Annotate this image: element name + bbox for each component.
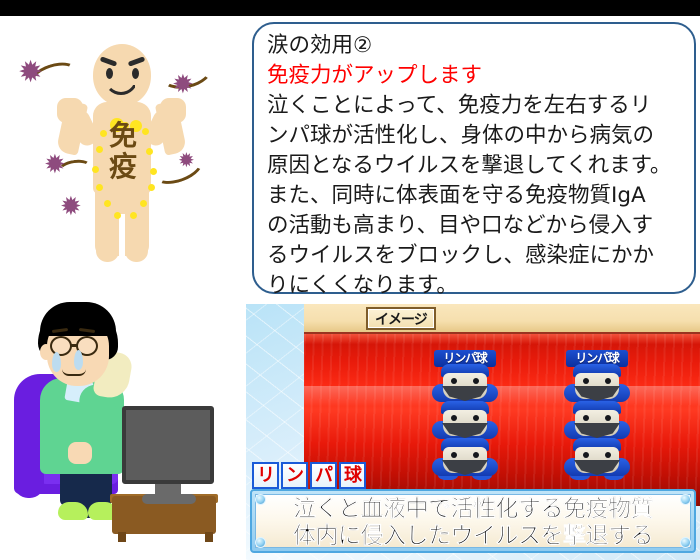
mascot-figure bbox=[428, 438, 502, 478]
tv-capture-panel: イメージ リンパ球 bbox=[246, 304, 700, 560]
textbox-line-7: の活動も高まり、目や口などから侵入す bbox=[267, 211, 682, 241]
man-shoe-left bbox=[58, 502, 88, 520]
tear-drop bbox=[52, 352, 61, 372]
caption-stud-icon bbox=[255, 494, 266, 505]
mascot-eye-left bbox=[451, 415, 457, 421]
lymphocyte-term-tiles: リ ン パ 球 bbox=[252, 462, 366, 489]
immunity-sparkle-dot bbox=[140, 200, 147, 207]
immunity-sparkle-dot bbox=[114, 212, 121, 219]
chest-kanji-line1: 免 bbox=[96, 120, 150, 151]
top-black-bar bbox=[0, 0, 700, 16]
chest-kanji: 免 疫 bbox=[96, 120, 150, 182]
mascot-figure bbox=[428, 364, 502, 404]
figure-head bbox=[93, 44, 151, 106]
vessel-highlight bbox=[304, 386, 700, 407]
immunity-figure-illustration: ✹ ✹ ✹ ✹ ✹ bbox=[0, 18, 244, 290]
mascot-figure bbox=[428, 401, 502, 441]
mascot-figure bbox=[560, 364, 634, 404]
caption-line-1: 泣くと血液中で活性化する免疫物質 bbox=[256, 496, 690, 523]
term-tile: ン bbox=[281, 462, 308, 489]
virus-germ-icon: ✹ bbox=[172, 72, 194, 98]
tv-caption-inner: 泣くと血液中で活性化する免疫物質 体内に侵入したウイルスを撃退する bbox=[255, 494, 691, 548]
term-tile: 球 bbox=[339, 462, 366, 489]
term-tile: リ bbox=[252, 462, 279, 489]
caption-stud-icon bbox=[255, 537, 266, 548]
textbox-line-5: 原因となるウイルスを撃退してくれます。 bbox=[267, 151, 682, 181]
program-header-band: イメージ bbox=[304, 304, 700, 334]
virus-germ-icon: ✹ bbox=[178, 150, 195, 170]
figure-fist-left bbox=[57, 98, 83, 123]
caption-stud-icon bbox=[680, 494, 691, 505]
textbox-line-8: るウイルスをブロックし、感染症にかか bbox=[267, 241, 682, 271]
tv-stand-foot bbox=[118, 532, 126, 542]
man-mouth bbox=[62, 369, 86, 376]
textbox-line-9: りにくくなります。 bbox=[267, 271, 682, 301]
immunity-sparkle-dot bbox=[96, 184, 103, 191]
mascot-eye-left bbox=[583, 378, 589, 384]
textbox-line-3: 泣くことによって、免疫力を左右するリ bbox=[267, 91, 682, 121]
caption-line-2: 体内に侵入したウイルスを撃退する bbox=[256, 523, 690, 550]
term-tile: パ bbox=[310, 462, 337, 489]
mascot-eye-right bbox=[473, 415, 479, 421]
man-hand bbox=[68, 442, 92, 464]
tv-screen bbox=[122, 406, 214, 484]
figure-fist-right bbox=[160, 98, 186, 123]
virus-germ-icon: ✹ bbox=[44, 152, 66, 178]
tear-drop bbox=[74, 350, 83, 370]
glasses-bridge bbox=[71, 344, 78, 347]
immunity-sparkle-dot bbox=[130, 212, 137, 219]
immunity-sparkle-dot bbox=[104, 200, 111, 207]
mascot-figure bbox=[560, 401, 634, 441]
immunity-sparkle-dot bbox=[150, 168, 157, 175]
chest-kanji-line2: 疫 bbox=[96, 151, 150, 182]
mascot-eye-right bbox=[605, 452, 611, 458]
slide-canvas: ✹ ✹ ✹ ✹ ✹ bbox=[0, 0, 700, 560]
crying-man-illustration bbox=[0, 296, 244, 560]
image-chip-label: イメージ bbox=[366, 307, 436, 330]
mascot-eye-right bbox=[473, 452, 479, 458]
textbox-line-6: また、同時に体表面を守る免疫物質IgA bbox=[267, 181, 682, 211]
figure-leg-gap bbox=[119, 214, 125, 264]
textbox-line-1: 涙の効用② bbox=[267, 31, 682, 61]
textbox-line-4: ンパ球が活性化し、身体の中から病気の bbox=[267, 121, 682, 151]
tv-caption-box: 泣くと血液中で活性化する免疫物質 体内に侵入したウイルスを撃退する bbox=[250, 489, 696, 553]
mascot-eye-left bbox=[583, 415, 589, 421]
virus-germ-icon: ✹ bbox=[60, 194, 82, 220]
textbox-heading: 免疫力がアップします bbox=[267, 61, 682, 91]
lymphocyte-mascot-group: リンパ球 bbox=[560, 350, 634, 478]
mascot-figure bbox=[560, 438, 634, 478]
immunity-sparkle-dot bbox=[148, 184, 155, 191]
mascot-eye-right bbox=[605, 378, 611, 384]
tv-stand-foot bbox=[205, 532, 213, 542]
caption-stud-icon bbox=[680, 537, 691, 548]
mascot-eye-right bbox=[473, 378, 479, 384]
mascot-eye-left bbox=[451, 378, 457, 384]
mascot-eye-right bbox=[605, 415, 611, 421]
mascot-eye-left bbox=[583, 452, 589, 458]
lymphocyte-mascot-group: リンパ球 bbox=[428, 350, 502, 478]
mascot-eye-left bbox=[451, 452, 457, 458]
tv-base bbox=[142, 494, 196, 504]
virus-germ-icon: ✹ bbox=[18, 58, 43, 88]
tear-benefit-textbox: 涙の効用② 免疫力がアップします 泣くことによって、免疫力を左右するリ ンパ球が… bbox=[252, 22, 696, 294]
